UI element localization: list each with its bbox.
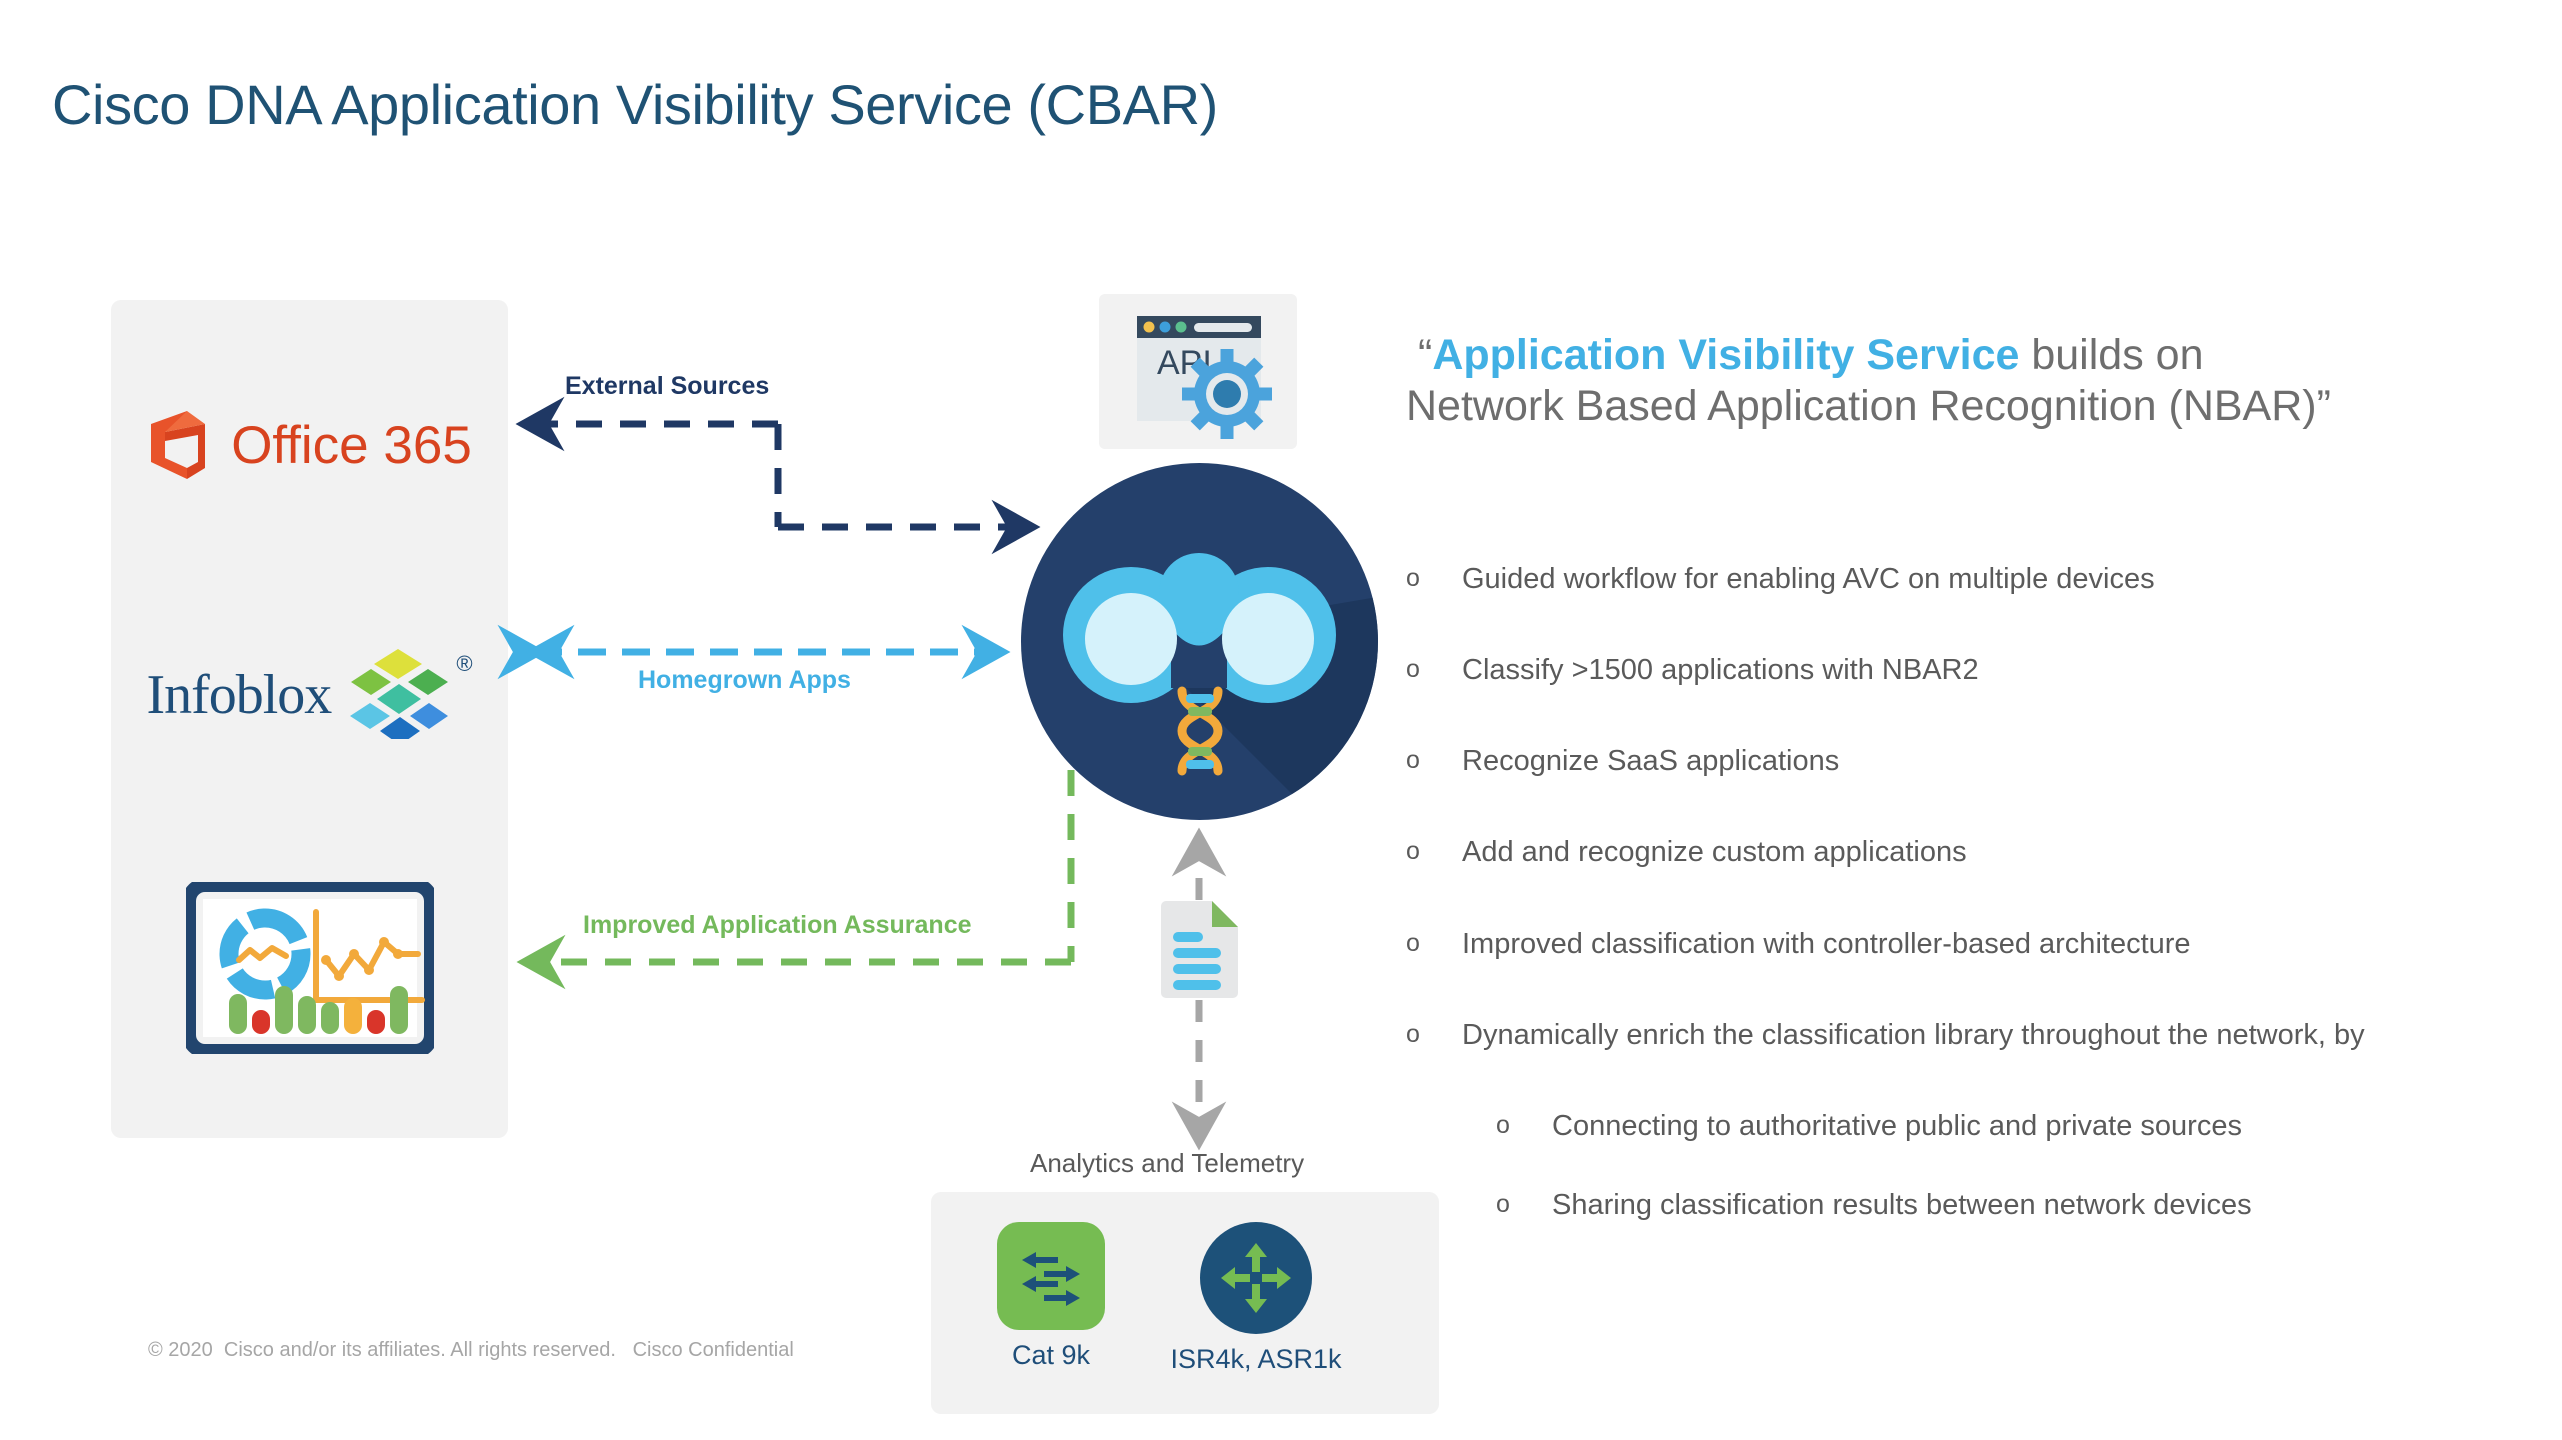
source-item-infoblox: Infoblox ® [111, 640, 508, 750]
list-item: o Sharing classification results between… [1496, 1186, 2546, 1225]
device-label-cat9k: Cat 9k [1012, 1340, 1090, 1371]
list-item: o Recognize SaaS applications [1406, 742, 2546, 781]
feature-bullet-list: o Guided workflow for enabling AVC on mu… [1406, 560, 2546, 1265]
devices-panel: Cat 9k ISR4k, ASR1k [931, 1192, 1439, 1414]
list-item: o Guided workflow for enabling AVC on mu… [1406, 560, 2546, 599]
bullet-text: Improved classification with controller-… [1462, 925, 2546, 964]
page-title: Cisco DNA Application Visibility Service… [52, 72, 1218, 137]
bullet-text: Guided workflow for enabling AVC on mult… [1462, 560, 2546, 599]
registered-mark-icon: ® [456, 651, 472, 677]
bullet-marker: o [1406, 833, 1462, 871]
telemetry-document-icon [1157, 900, 1242, 1000]
infoblox-label: Infoblox [146, 663, 331, 727]
list-item: o Dynamically enrich the classification … [1406, 1016, 2546, 1055]
flow-label-external-sources: External Sources [565, 372, 769, 401]
source-item-analytics-dashboard [111, 880, 508, 1060]
device-label-isr-asr: ISR4k, ASR1k [1170, 1344, 1341, 1375]
bullet-marker: o [1406, 742, 1462, 780]
quote-rest-line1: builds on [2019, 331, 2203, 379]
list-item: o Classify >1500 applications with NBAR2 [1406, 651, 2546, 690]
bullet-marker: o [1406, 1016, 1462, 1054]
infoblox-diamond-icon [343, 647, 448, 744]
device-catalyst-switch: Cat 9k [956, 1222, 1146, 1371]
bullet-marker: o [1406, 925, 1462, 963]
bullet-text: Add and recognize custom applications [1462, 833, 2546, 872]
list-item: o Add and recognize custom applications [1406, 833, 2546, 872]
list-item: o Connecting to authoritative public and… [1496, 1107, 2546, 1146]
bullet-text: Classify >1500 applications with NBAR2 [1462, 651, 2546, 690]
source-item-office-365: Office 365 [111, 390, 508, 500]
arrow-external-sources [526, 424, 1030, 527]
flow-label-improved-application-assurance: Improved Application Assurance [583, 911, 972, 940]
quote-line2: Network Based Application Recognition (N… [1406, 382, 2331, 430]
quote-highlight: Application Visibility Service [1432, 331, 2019, 379]
bullet-marker: o [1496, 1107, 1552, 1145]
bullet-text: Connecting to authoritative public and p… [1552, 1107, 2546, 1146]
bullet-text: Sharing classification results between n… [1552, 1186, 2546, 1225]
switch-icon [997, 1222, 1105, 1330]
application-visibility-service-icon [1021, 463, 1378, 820]
office-365-logo: Office 365 [147, 408, 472, 482]
sources-panel: Office 365 Infoblox [111, 300, 508, 1138]
bullet-marker: o [1406, 560, 1462, 598]
bullet-text: Dynamically enrich the classification li… [1462, 1016, 2546, 1055]
infoblox-logo: Infoblox ® [146, 647, 472, 744]
flow-label-homegrown-apps: Homegrown Apps [638, 666, 851, 695]
flow-label-analytics-and-telemetry: Analytics and Telemetry [1030, 1148, 1304, 1179]
quote-block: “Application Visibility Service builds o… [1406, 330, 2536, 431]
list-item: o Improved classification with controlle… [1406, 925, 2546, 964]
api-icon: API [1099, 294, 1297, 449]
quote-open-mark: “ [1418, 331, 1432, 379]
bullet-text: Recognize SaaS applications [1462, 742, 2546, 781]
bullet-marker: o [1406, 651, 1462, 689]
footer-copyright: © 2020 Cisco and/or its affiliates. All … [148, 1339, 794, 1362]
device-isr-asr-router: ISR4k, ASR1k [1161, 1222, 1351, 1375]
office-365-icon [147, 408, 209, 482]
slide-canvas: Cisco DNA Application Visibility Service… [0, 0, 2562, 1440]
office-365-label: Office 365 [231, 415, 472, 476]
bullet-marker: o [1496, 1186, 1552, 1224]
analytics-dashboard-icon [186, 882, 434, 1059]
router-icon [1200, 1222, 1312, 1334]
